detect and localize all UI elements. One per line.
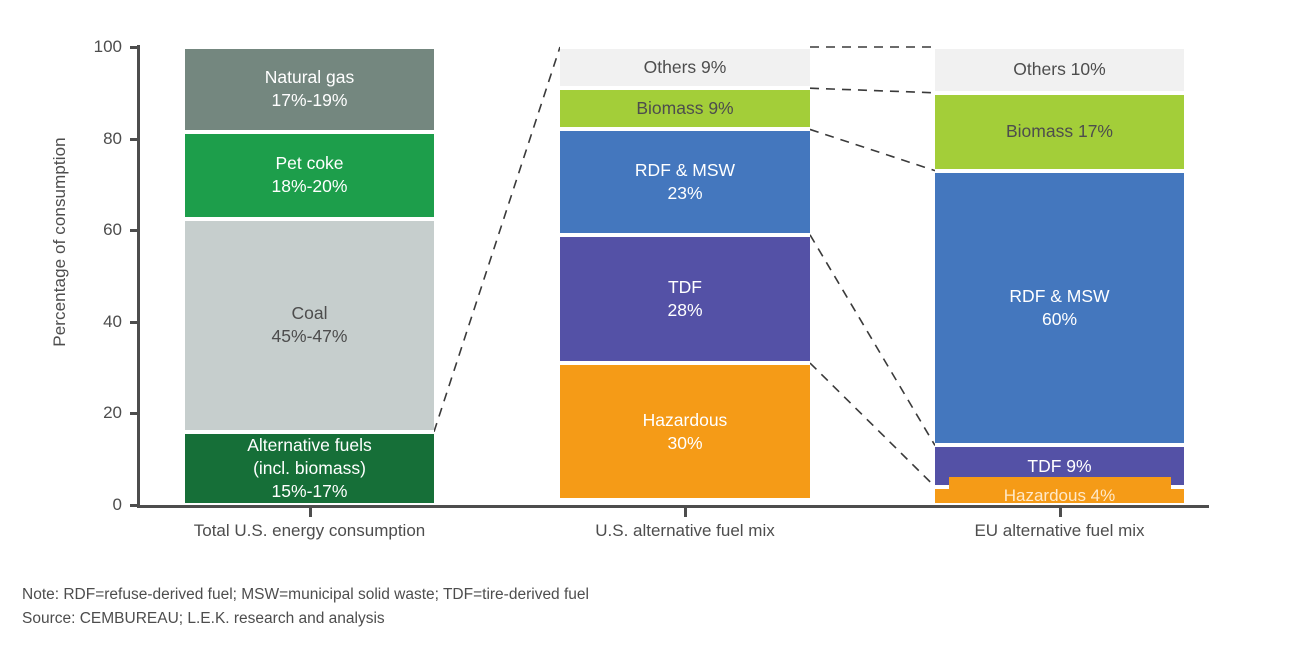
y-tick-100 — [130, 46, 138, 49]
x-tick-1 — [684, 508, 687, 517]
segment-label: 18%-20% — [272, 175, 348, 198]
segment-label: 15%-17% — [272, 480, 348, 503]
source-line: Source: CEMBUREAU; L.E.K. research and a… — [22, 607, 589, 631]
bar-segment[interactable]: Pet coke18%-20% — [185, 132, 434, 219]
bar-segment[interactable]: Alternative fuels(incl. biomass)15%-17% — [185, 432, 434, 505]
leader-bar1-to-bar2 — [434, 47, 560, 432]
bar-segment[interactable]: Others 10% — [935, 47, 1184, 93]
segment-label: Others 9% — [644, 56, 727, 79]
segment-label: Others 10% — [1013, 58, 1105, 81]
y-tick-60 — [130, 229, 138, 232]
segment-label: (incl. biomass) — [253, 457, 366, 480]
segment-label: Pet coke — [275, 152, 343, 175]
leader-bar2-to-bar3-2 — [810, 129, 935, 170]
leader-bar2-to-bar3-1 — [810, 88, 935, 93]
bar-segment[interactable]: TDF28% — [560, 235, 810, 363]
segment-label: 30% — [667, 432, 702, 455]
bar-segment[interactable]: RDF & MSW60% — [935, 171, 1184, 446]
bar-segment[interactable]: Biomass 9% — [560, 88, 810, 129]
leader-bar2-to-bar3-3 — [810, 235, 935, 446]
hazardous-callout — [949, 477, 1171, 489]
segment-label: 28% — [667, 299, 702, 322]
segment-label: RDF & MSW — [635, 159, 735, 182]
y-tick-80 — [130, 138, 138, 141]
bar-segment[interactable]: Biomass 17% — [935, 93, 1184, 171]
leader-bar2-to-bar3-4 — [810, 363, 935, 487]
bar-2[interactable]: Others 10%Biomass 17%RDF & MSW60%TDF 9%H… — [935, 47, 1184, 505]
footnotes: Note: RDF=refuse-derived fuel; MSW=munic… — [22, 583, 589, 631]
x-tick-2 — [1059, 508, 1062, 517]
y-tick-label-40: 40 — [2, 312, 122, 332]
segment-label: TDF 9% — [1027, 455, 1091, 478]
y-tick-40 — [130, 321, 138, 324]
bar-segment[interactable]: Hazardous30% — [560, 363, 810, 500]
segment-label: Biomass 9% — [636, 97, 733, 120]
segment-label: 45%-47% — [272, 325, 348, 348]
segment-label: 17%-19% — [272, 89, 348, 112]
bar-segment[interactable]: Others 9% — [560, 47, 810, 88]
segment-label: 60% — [1042, 308, 1077, 331]
segment-label: 23% — [667, 182, 702, 205]
y-tick-label-0: 0 — [2, 495, 122, 515]
bar-segment[interactable]: Coal45%-47% — [185, 219, 434, 432]
y-tick-label-80: 80 — [2, 129, 122, 149]
segment-label: Coal — [292, 302, 328, 325]
bar-0[interactable]: Natural gas17%-19%Pet coke18%-20%Coal45%… — [185, 47, 434, 505]
y-tick-0 — [130, 504, 138, 507]
bar-segment[interactable]: Hazardous 4% — [935, 487, 1184, 505]
y-axis-line — [137, 45, 140, 507]
segment-label: RDF & MSW — [1009, 285, 1109, 308]
bar-segment[interactable]: Natural gas17%-19% — [185, 47, 434, 132]
y-tick-20 — [130, 412, 138, 415]
segment-label: Hazardous — [643, 409, 728, 432]
segment-label: Alternative fuels — [247, 434, 372, 457]
bar-1[interactable]: Others 9%Biomass 9%RDF & MSW23%TDF28%Haz… — [560, 47, 810, 505]
x-tick-0 — [309, 508, 312, 517]
bar-segment[interactable]: RDF & MSW23% — [560, 129, 810, 234]
y-tick-label-20: 20 — [2, 403, 122, 423]
segment-label: TDF — [668, 276, 702, 299]
note-line: Note: RDF=refuse-derived fuel; MSW=munic… — [22, 583, 589, 607]
segment-label: Biomass 17% — [1006, 120, 1113, 143]
y-tick-label-60: 60 — [2, 220, 122, 240]
y-tick-label-100: 100 — [2, 37, 122, 57]
segment-label: Natural gas — [265, 66, 355, 89]
chart-container: Percentage of consumption 020406080100 T… — [0, 0, 1300, 646]
x-category-label-2: EU alternative fuel mix — [810, 521, 1300, 541]
